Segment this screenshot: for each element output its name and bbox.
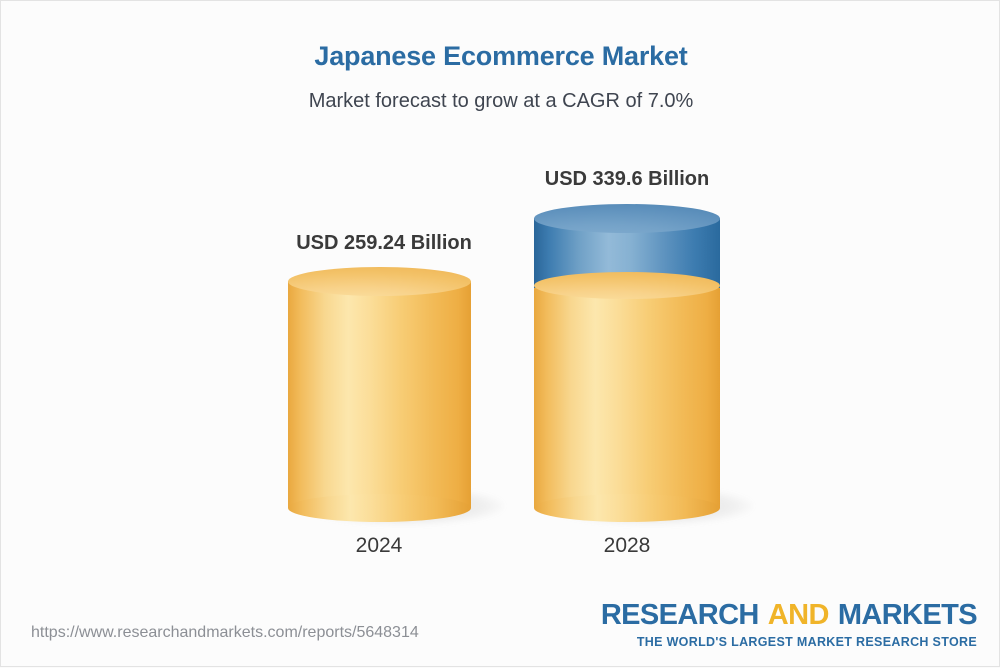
plot-area: USD 259.24 Billion 2024 USD 339.6 Billio… bbox=[1, 1, 1000, 668]
logo-word-research: RESEARCH bbox=[601, 599, 759, 631]
bar-top-cap-2028 bbox=[534, 204, 720, 233]
logo-word-markets: MARKETS bbox=[838, 599, 977, 631]
source-url[interactable]: https://www.researchandmarkets.com/repor… bbox=[31, 624, 419, 642]
logo-word-and: AND bbox=[768, 599, 829, 631]
bar-segment-2024-base-body bbox=[288, 281, 471, 508]
category-label-2028: 2028 bbox=[457, 534, 797, 558]
logo-wordmark: RESEARCHANDMARKETS bbox=[601, 601, 977, 630]
logo-tagline: THE WORLD'S LARGEST MARKET RESEARCH STOR… bbox=[601, 635, 977, 649]
bar-bottom-cap-2024 bbox=[288, 494, 471, 522]
value-label-2024: USD 259.24 Billion bbox=[214, 232, 554, 255]
bar-midjoin-cap-2028 bbox=[534, 272, 720, 299]
chart-canvas: Japanese Ecommerce Market Market forecas… bbox=[0, 0, 1000, 667]
bar-segment-2028-base-body bbox=[534, 281, 720, 508]
logo[interactable]: RESEARCHANDMARKETS THE WORLD'S LARGEST M… bbox=[601, 601, 977, 649]
value-label-2028: USD 339.6 Billion bbox=[457, 168, 797, 191]
bar-top-cap-2024 bbox=[288, 267, 471, 296]
bar-bottom-cap-2028 bbox=[534, 494, 720, 522]
